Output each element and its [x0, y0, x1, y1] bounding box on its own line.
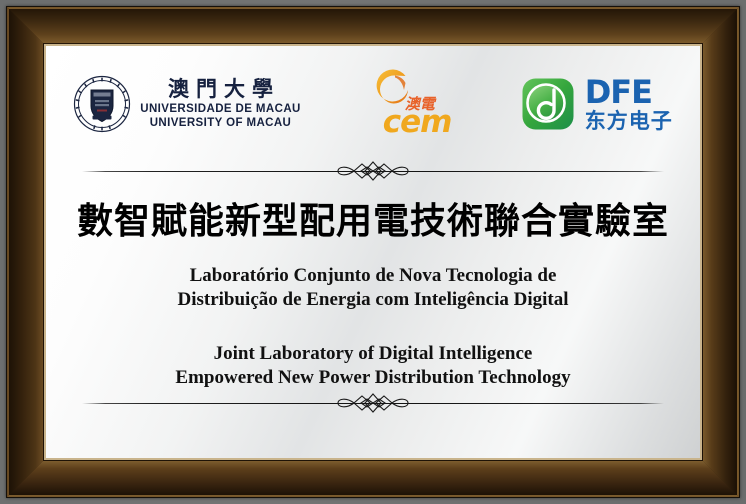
diamond-knot-ornament-icon: [326, 158, 420, 184]
title-english-line2: Empowered New Power Distribution Technol…: [46, 366, 700, 390]
um-portuguese-name: UNIVERSIDADE DE MACAU: [140, 104, 300, 116]
frame-bevel-bottom: [6, 458, 740, 498]
um-crest-seal-icon: [73, 75, 131, 133]
dfe-english-name: DFE: [585, 76, 673, 108]
frame-bevel-left: [6, 6, 46, 498]
logo-university-of-macau: 澳門大學 UNIVERSIDADE DE MACAU UNIVERSITY OF…: [73, 75, 300, 133]
um-wordmark: 澳門大學 UNIVERSIDADE DE MACAU UNIVERSITY OF…: [140, 79, 300, 129]
logo-cem: 澳電 cem: [357, 67, 465, 141]
title-portuguese: Laboratório Conjunto de Nova Tecnologia …: [46, 264, 700, 313]
dfe-green-square-swirl-icon: [521, 77, 575, 131]
title-portuguese-line2: Distribuição de Energia com Inteligência…: [46, 288, 700, 312]
divider-bottom: [82, 390, 664, 416]
cem-wordmark: cem: [383, 107, 452, 138]
um-chinese-name: 澳門大學: [168, 79, 280, 100]
dfe-wordmark: DFE 东方电子: [585, 76, 673, 132]
title-english: Joint Laboratory of Digital Intelligence…: [46, 342, 700, 391]
title-english-line1: Joint Laboratory of Digital Intelligence: [46, 342, 700, 366]
logo-dfe: DFE 东方电子: [521, 76, 673, 132]
frame-bevel-top: [6, 6, 740, 46]
title-chinese: 數智賦能新型配用電技術聯合實驗室: [46, 192, 700, 244]
um-english-name: UNIVERSITY OF MACAU: [150, 118, 292, 130]
logo-row: 澳門大學 UNIVERSIDADE DE MACAU UNIVERSITY OF…: [46, 58, 700, 150]
dfe-chinese-name: 东方电子: [585, 111, 673, 132]
plaque-plate: 澳門大學 UNIVERSIDADE DE MACAU UNIVERSITY OF…: [46, 46, 700, 458]
frame-bevel-right: [700, 6, 740, 498]
title-portuguese-line1: Laboratório Conjunto de Nova Tecnologia …: [46, 264, 700, 288]
plaque-scene: 澳門大學 UNIVERSIDADE DE MACAU UNIVERSITY OF…: [0, 0, 746, 504]
divider-top: [82, 158, 664, 184]
diamond-knot-ornament-icon: [326, 390, 420, 416]
wooden-frame: 澳門大學 UNIVERSIDADE DE MACAU UNIVERSITY OF…: [6, 6, 740, 498]
